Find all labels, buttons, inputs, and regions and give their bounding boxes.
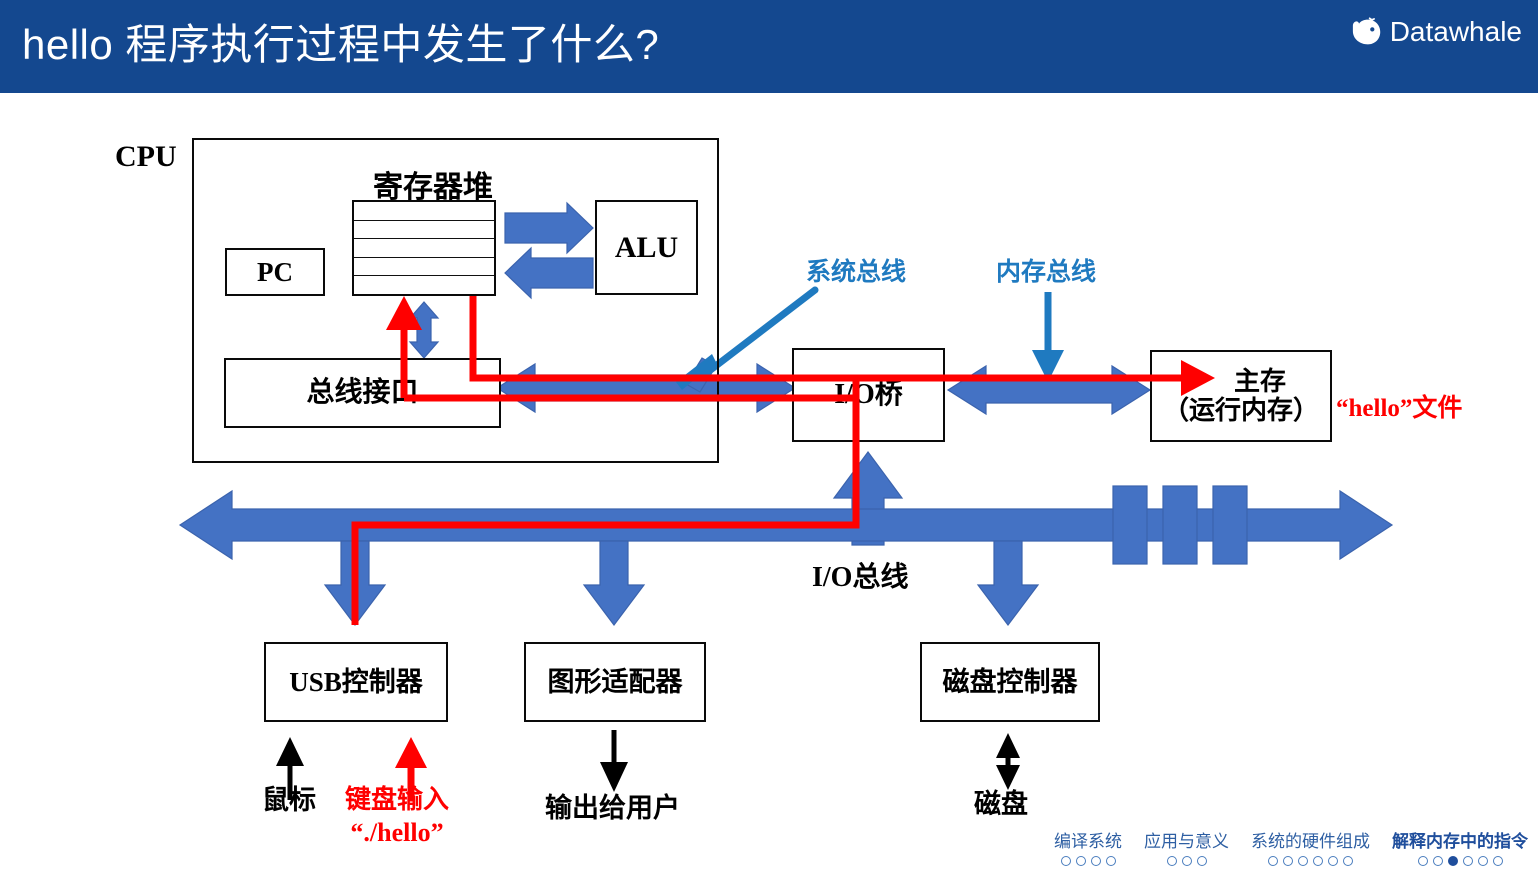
red-regfile-arrowhead — [386, 296, 422, 330]
red-regfile-to-bus — [473, 296, 856, 378]
red-usb-to-bridge-path — [355, 378, 856, 625]
red-keyboard-arrowhead — [395, 737, 427, 768]
keyboard-input-label: 键盘输入 “./hello” — [345, 784, 449, 849]
slide-canvas: hello 程序执行过程中发生了什么? Datawhale — [0, 0, 1538, 874]
keyboard-input-line-1: 键盘输入 — [345, 784, 449, 817]
hello-file-label: “hello”文件 — [1336, 388, 1462, 424]
keyboard-input-line-2: “./hello” — [345, 817, 449, 850]
red-memory-arrowhead — [1181, 360, 1215, 396]
red-path-layer — [0, 0, 1538, 874]
